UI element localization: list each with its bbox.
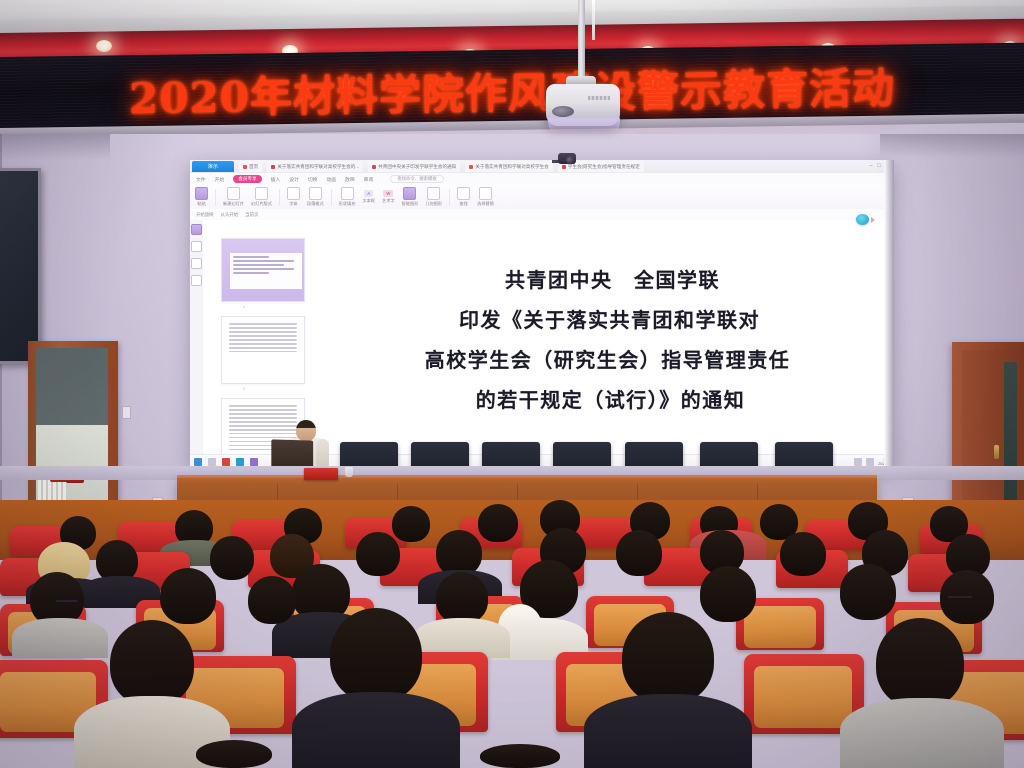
audience-head <box>700 566 756 622</box>
camera-lens-icon <box>566 156 574 164</box>
ribbon-layout-button[interactable]: 幻灯片版式 <box>251 187 272 207</box>
ribbon-font-button[interactable]: 字体 <box>287 187 300 207</box>
start-slideshow-button[interactable]: 开始放映 <box>196 212 214 218</box>
thumbnail-content <box>230 253 302 289</box>
ribbon-new-slide-button[interactable]: 新建幻灯片 <box>223 187 244 207</box>
tab-home[interactable]: 演示 <box>192 161 234 172</box>
ribbon-tab-transition[interactable]: 切换 <box>308 176 318 183</box>
presenter-arm <box>316 439 329 469</box>
geometry-icon <box>427 187 440 200</box>
projector-light-glow <box>548 118 620 136</box>
audience-head <box>780 532 826 576</box>
document-tab[interactable]: 共青团中央关于印发学联学生会的通知 <box>368 161 460 172</box>
shape-fill-icon <box>341 187 354 200</box>
lecture-hall-photo: 2020年材料学院作风建设警示教育活动 演示 首页 关于落实 <box>0 0 1024 768</box>
divider <box>279 189 280 206</box>
divider <box>331 189 332 206</box>
audience-head <box>248 576 296 624</box>
chevron-right-icon[interactable] <box>871 217 875 223</box>
outline-view-icon[interactable] <box>191 241 202 252</box>
divider <box>215 189 216 206</box>
audience-shoulders <box>12 618 108 658</box>
app-icon[interactable] <box>236 458 244 466</box>
ribbon-item-label: 查找 <box>459 201 467 207</box>
divider <box>449 189 450 206</box>
wordart-icon: W <box>383 190 393 197</box>
view-mode-rail <box>190 220 204 468</box>
document-tab[interactable]: 首页 <box>239 161 262 172</box>
search-icon <box>457 187 470 200</box>
doc-icon <box>243 165 247 169</box>
document-tab-label: 关于落实共青团和学联对高校学生会 <box>475 164 549 170</box>
ribbon-item-label: 字体 <box>289 201 297 207</box>
slide-line: 共青团中央 全国学联 <box>495 264 720 293</box>
ribbon-item-label: 幻灯片版式 <box>251 201 272 207</box>
eyeglasses <box>56 600 78 602</box>
ceiling-light <box>96 40 112 52</box>
start-menu-icon[interactable] <box>194 458 202 466</box>
ribbon-item-label: 形状填充 <box>339 201 356 207</box>
slide-body-text: 共青团中央 全国学联 印发《关于落实共青团和学联对 高校学生会（研究生会）指导管… <box>321 264 894 413</box>
presenter-head <box>296 420 316 441</box>
ribbon-tab-slideshow[interactable]: 放映 <box>345 176 355 183</box>
audience-head <box>160 568 216 624</box>
audience-head <box>436 572 488 624</box>
audience-head <box>392 506 430 542</box>
doc-icon <box>562 165 566 169</box>
paste-icon <box>195 187 208 200</box>
new-slide-icon <box>227 187 240 200</box>
eyeglasses <box>948 596 972 598</box>
select-icon <box>479 187 492 200</box>
ribbon-item-label: 智能图形 <box>402 201 419 207</box>
projector-lens-icon <box>552 106 574 117</box>
volume-icon[interactable] <box>866 458 874 466</box>
app-icon[interactable] <box>250 458 258 466</box>
screen-right-edge <box>884 160 894 468</box>
ribbon-item-label: 粘贴 <box>197 201 205 207</box>
thumbnail-index: 2 <box>203 386 285 391</box>
ribbon-item-label: 几何图形 <box>425 201 442 207</box>
layout-icon <box>255 187 268 200</box>
slide-line: 高校学生会（研究生会）指导管理责任 <box>425 344 791 373</box>
ribbon-textbox-button[interactable]: A 文本框 <box>362 190 375 204</box>
ribbon-tab-insert[interactable]: 插入 <box>271 176 281 183</box>
ribbon-item-label: 新建幻灯片 <box>223 201 244 207</box>
ribbon-toolbar: 粘贴 新建幻灯片 幻灯片版式 字体 段落格式 <box>190 185 894 210</box>
audience-head <box>110 620 194 706</box>
ribbon-select-button[interactable]: 选择替换 <box>477 187 494 207</box>
audience-head <box>478 504 518 542</box>
document-tab[interactable]: 关于落实共青团和学联对高校学生会 <box>465 161 553 172</box>
ribbon-tab-animation[interactable]: 动画 <box>326 176 336 183</box>
ribbon-tab-file[interactable]: 文件 <box>196 176 206 183</box>
audience-head <box>356 532 400 576</box>
document-tab-label: 共青团中央关于印发学联学生会的通知 <box>378 164 456 170</box>
ribbon-tab-strip: 文件 开始 会员专享 插入 设计 切换 动画 放映 审阅 查找命令、搜索模板 <box>190 173 894 185</box>
font-icon <box>287 187 300 200</box>
ribbon-item-label: 段落格式 <box>307 201 324 207</box>
maximize-icon[interactable]: □ <box>877 163 881 169</box>
network-icon[interactable] <box>854 458 862 466</box>
ceiling-seam <box>592 0 595 40</box>
sort-view-icon[interactable] <box>191 275 202 286</box>
light-switch[interactable] <box>122 406 131 419</box>
slide-line: 印发《关于落实共青团和学联对 <box>455 304 760 333</box>
slide-editing-canvas[interactable]: 共青团中央 全国学联 印发《关于落实共青团和学联对 高校学生会（研究生会）指导管… <box>321 220 894 468</box>
ceiling-shadow-right <box>880 134 1024 158</box>
document-tab[interactable]: 关于落实共青团和学联对高校学生会的... <box>267 161 363 172</box>
ribbon-item-label: 文本框 <box>362 198 375 204</box>
audience-seating-area <box>0 500 1024 768</box>
water-cup <box>345 467 353 477</box>
search-input[interactable]: 查找命令、搜索模板 <box>390 175 444 183</box>
app-title-bar: 演示 首页 关于落实共青团和学联对高校学生会的... 共青团中央关于印发学联学生… <box>190 160 894 173</box>
doc-icon <box>469 165 473 169</box>
slide-view-icon[interactable] <box>191 224 202 235</box>
ai-assistant-button[interactable] <box>856 214 869 225</box>
audience-head <box>616 530 662 576</box>
thumbnail-index: 1 <box>203 304 285 309</box>
audience-shoulders <box>292 692 460 768</box>
thumbnail-content <box>229 323 297 352</box>
presenter-nameplate <box>304 468 338 480</box>
current-page-button[interactable]: 当前页 <box>245 212 258 218</box>
ceiling-shadow-left <box>0 134 110 160</box>
audience-head <box>840 564 896 620</box>
projector-vent <box>588 96 610 100</box>
app-icon[interactable] <box>222 458 230 466</box>
slide-line: 的若干规定（试行）》的通知 <box>470 384 746 413</box>
audience-shoulders <box>584 694 752 768</box>
wall-display-panel <box>0 168 41 364</box>
ribbon-paste-button[interactable]: 粘贴 <box>195 187 208 207</box>
audience-head <box>196 740 272 768</box>
ribbon-tab-design[interactable]: 设计 <box>289 176 299 183</box>
ribbon-item-label: 艺术字 <box>382 198 395 204</box>
textbox-icon: A <box>364 190 373 197</box>
search-icon[interactable] <box>208 458 216 466</box>
smartart-icon <box>403 187 416 200</box>
slide-thumbnail[interactable] <box>221 238 305 302</box>
audience-head <box>622 612 714 704</box>
presentation-app-window: 演示 首页 关于落实共青团和学联对高校学生会的... 共青团中央关于印发学联学生… <box>190 160 894 468</box>
ribbon-item-label: 选择替换 <box>477 201 494 207</box>
audience-head <box>210 536 254 580</box>
audience-head <box>480 744 560 768</box>
audience-head <box>876 618 964 708</box>
door-handle[interactable] <box>994 445 999 459</box>
notes-view-icon[interactable] <box>191 258 202 269</box>
doc-icon <box>372 165 376 169</box>
projection-screen: 演示 首页 关于落实共青团和学联对高校学生会的... 共青团中央关于印发学联学生… <box>190 160 894 468</box>
auditorium-seat-back <box>754 666 852 728</box>
ribbon-paragraph-button[interactable]: 段落格式 <box>307 187 324 207</box>
auditorium-seat-back <box>744 606 816 648</box>
ribbon-wordart-button[interactable]: W 艺术字 <box>382 190 395 204</box>
ribbon-tab-review[interactable]: 审阅 <box>364 176 374 183</box>
ribbon-find-button[interactable]: 查找 <box>457 187 470 207</box>
slide-thumbnail[interactable] <box>221 316 305 384</box>
projector-mount-pole <box>578 0 585 82</box>
ribbon-tab-start[interactable]: 开始 <box>215 176 225 183</box>
document-tab-label: 关于落实共青团和学联对高校学生会的... <box>277 164 359 170</box>
paragraph-icon <box>309 187 322 200</box>
document-tab-label: 首页 <box>249 164 258 170</box>
doc-icon <box>271 165 275 169</box>
document-tab-label: 学生会(研究生会)指导管理责任规定 <box>568 164 640 170</box>
audience-shoulders <box>840 698 1004 768</box>
membership-badge[interactable]: 会员专享 <box>233 175 261 183</box>
minimize-icon[interactable]: – <box>869 163 872 169</box>
ribbon-shape-fill-button[interactable]: 形状填充 <box>339 187 356 207</box>
audience-head <box>330 608 422 702</box>
ribbon-smartart-button[interactable]: 智能图形 <box>402 187 419 207</box>
ribbon-geometry-button[interactable]: 几何图形 <box>425 187 442 207</box>
from-beginning-button[interactable]: 从头开始 <box>221 212 239 218</box>
